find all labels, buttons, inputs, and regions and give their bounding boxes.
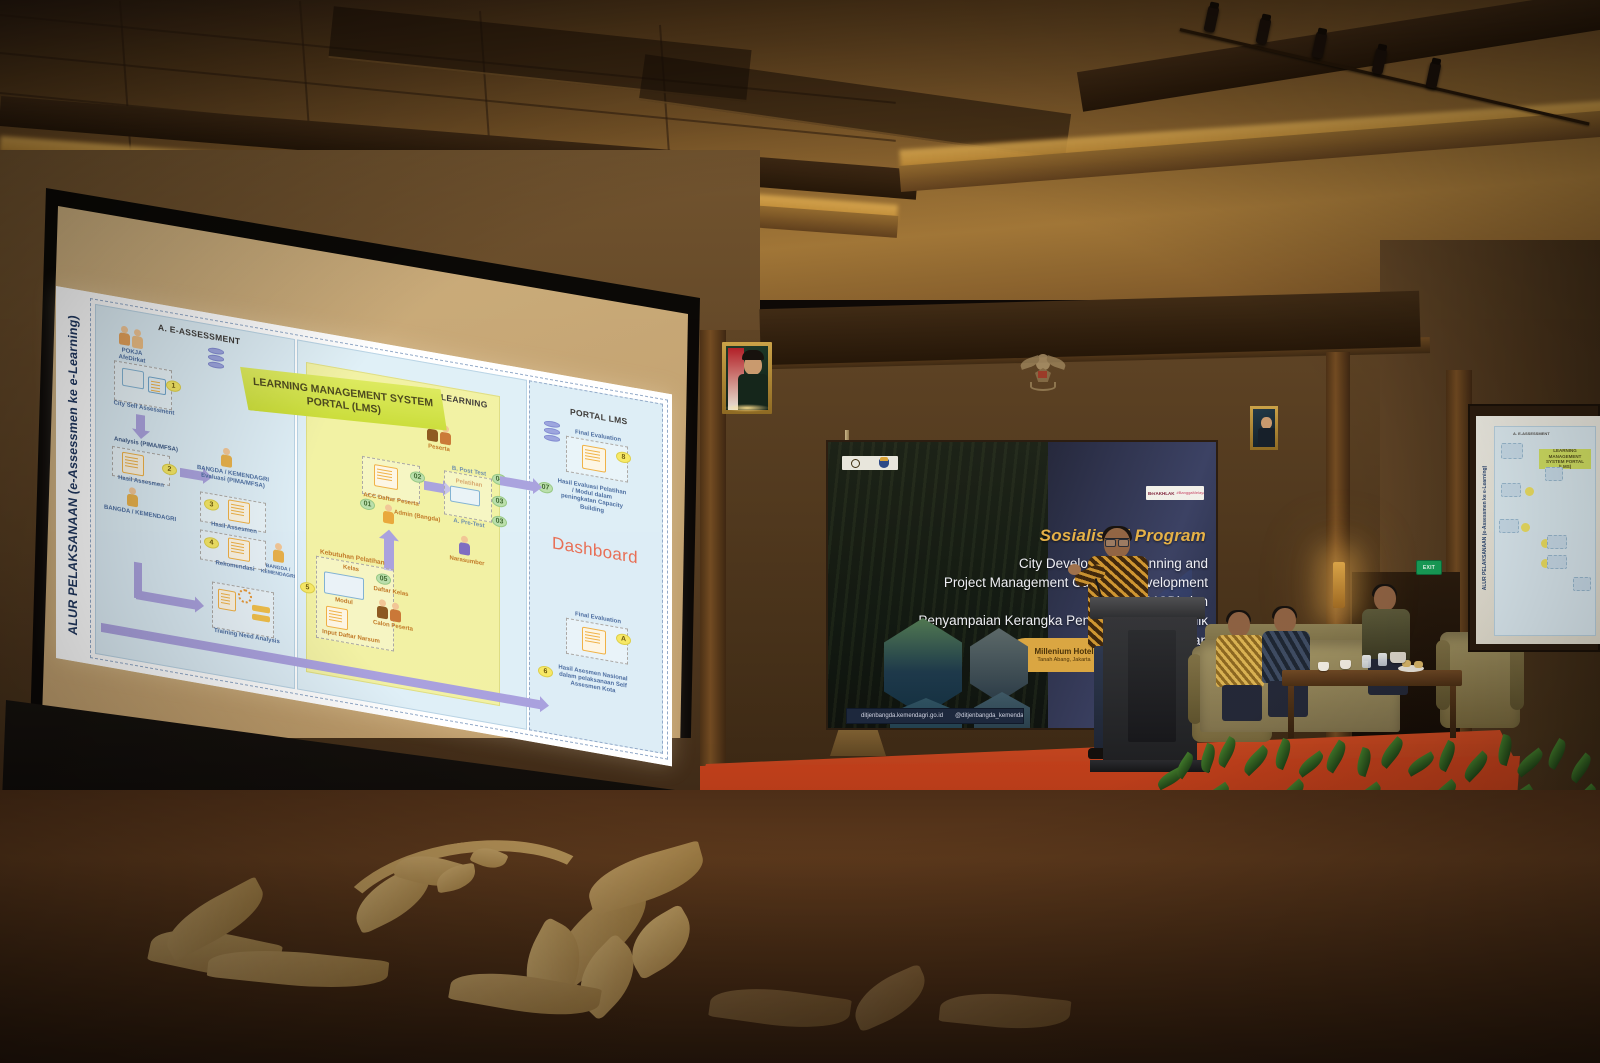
database-icon (544, 420, 560, 443)
label-portal-lms: PORTAL LMS (570, 406, 627, 426)
handle-website: ditjenbangda.kemendagri.go.id (861, 713, 943, 719)
wall-sconce-light (1333, 562, 1345, 608)
document-icon (374, 464, 398, 490)
document-icon (582, 445, 606, 473)
diagram-node (1547, 555, 1567, 569)
arrow-right-icon (136, 590, 196, 610)
document-icon (218, 589, 236, 612)
step-badge (1525, 487, 1534, 496)
projection-screen: ALUR PELAKSANAAN (e-Assessmen ke e-Learn… (28, 178, 700, 738)
chart-icon (122, 368, 144, 390)
diagram-node (1547, 535, 1567, 549)
conference-hall-scene: EXIT ALUR PELAKSANAAN (e-Assessmen ke e-… (0, 0, 1600, 1063)
secondary-section-label: A. E-ASSESSMENT (1513, 431, 1550, 436)
bar-chart-icon (148, 376, 166, 395)
label-e-assessment: A. E-ASSESSMENT (158, 322, 240, 347)
coffee-table (1282, 670, 1462, 686)
node-label: BANGDA / KEMENDAGRI Evaluasi (PIMA/MFSA) (194, 464, 272, 492)
kemendagri-logo-icon (879, 459, 889, 468)
node-label: Hasil Asesmen Nasional dalam pelaksanaan… (556, 664, 630, 699)
exit-sign-label: EXIT (1423, 565, 1435, 571)
backdrop-sponsor-badge: BerAKHLAK #BanggaMelayaniBangsa (1146, 486, 1204, 500)
document-icon (326, 606, 348, 631)
exit-sign: EXIT (1416, 560, 1442, 575)
snack-item (1414, 661, 1423, 668)
panel-portal-lms: PORTAL LMS Final Evaluation 8 07 Hasil E… (529, 380, 663, 754)
coffee-table-legs (1288, 686, 1456, 738)
node-label: BANGDA /KEMENDAGRI (254, 561, 302, 581)
secondary-screen-surface: ALUR PELAKSANAAN (e-Assessmen ke e-Learn… (1476, 416, 1600, 644)
slide-vertical-title: ALUR PELAKSANAAN (e-Assessmen ke e-Learn… (58, 286, 88, 663)
handle-instagram: @ditjenbangda_kemendagri (955, 713, 1024, 719)
diagram-node (1573, 577, 1591, 591)
secondary-portrait (1250, 406, 1278, 450)
coffee-cup (1318, 662, 1329, 671)
database-icon (208, 347, 224, 370)
arrow-up-icon (384, 538, 394, 572)
dashboard-label: Dashboard (552, 533, 638, 568)
portrait-uplight (724, 404, 770, 412)
figure-narasumber (458, 535, 470, 557)
garuda-pancasila-emblem (1022, 350, 1064, 398)
podium-top (1090, 597, 1205, 619)
secondary-slide-vertical-title: ALUR PELAKSANAAN (e-Assessmen ke e-Learn… (1478, 428, 1492, 628)
backdrop-logo-strip (842, 456, 898, 470)
diagram-node (1545, 467, 1563, 481)
figure-pokja (118, 325, 144, 350)
diagram-node (1501, 443, 1523, 459)
document-icon (228, 537, 250, 562)
teapot (1390, 652, 1406, 663)
document-icon (582, 627, 606, 655)
drinking-glass (1362, 655, 1371, 668)
organization-logo-icon (851, 459, 860, 468)
secondary-lms-banner: LEARNING MANAGEMENT SYSTEM PORTAL (LMS) (1539, 449, 1591, 469)
arrow-down-icon (136, 414, 145, 432)
sponsor-badge-1: BerAKHLAK (1148, 491, 1175, 496)
podium-front-panel (1128, 630, 1176, 742)
drinking-glass (1378, 653, 1387, 666)
secondary-projection-screen: ALUR PELAKSANAAN (e-Assessmen ke e-Learn… (1468, 404, 1600, 652)
figure-admin (382, 503, 394, 525)
document-icon (122, 452, 144, 477)
figure-bangda (126, 486, 138, 508)
figure-evaluator (220, 447, 232, 469)
speaker-glasses (1105, 538, 1129, 544)
node-label: Hasil Evaluasi Pelatihan / Modul dalam p… (556, 478, 628, 519)
carpet-floral-motif-secondary (700, 960, 1120, 1060)
document-icon (228, 499, 250, 524)
sponsor-badge-2: #BanggaMelayaniBangsa (1177, 491, 1204, 495)
secondary-slide-diagram: A. E-ASSESSMENT LEARNING MANAGEMENT SYST… (1494, 426, 1596, 636)
diagram-node (1499, 519, 1519, 533)
figure-kemendagri (272, 542, 284, 564)
backdrop-footer-handles: ditjenbangda.kemendagri.go.id @ditjenban… (846, 708, 1024, 724)
step-badge: 6 (538, 665, 553, 679)
diagram-node (1501, 483, 1521, 497)
speaker-hand (1068, 564, 1081, 575)
coffee-cup (1340, 660, 1351, 669)
backdrop-line-1: City Development Planning and (872, 554, 1208, 573)
step-badge (1521, 523, 1530, 532)
